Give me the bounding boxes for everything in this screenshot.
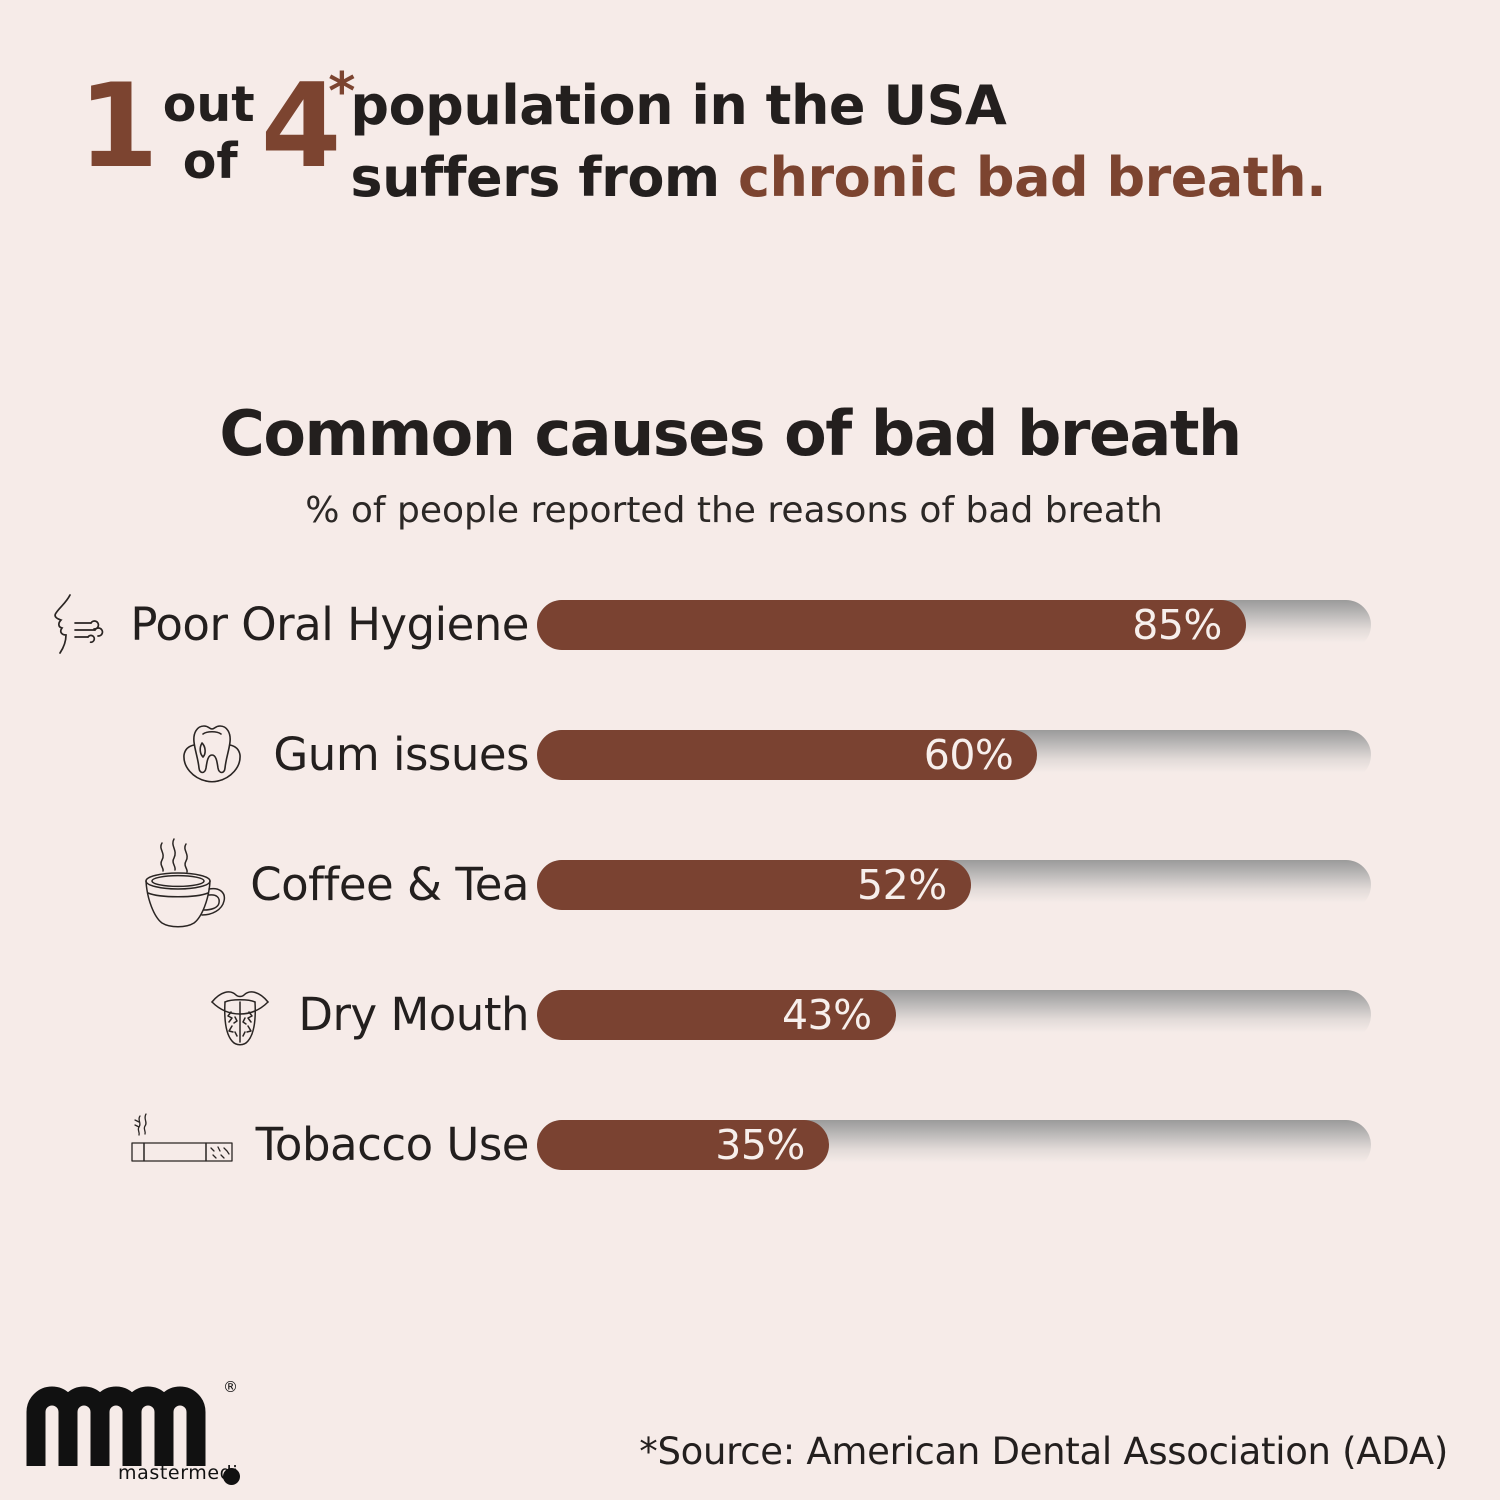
mastermedi-logo: ® mastermedi bbox=[26, 1378, 246, 1490]
source-note: *Source: American Dental Association (AD… bbox=[639, 1428, 1448, 1476]
bar-chart: Poor Oral Hygiene 85% bbox=[0, 596, 1500, 1246]
headline-line-2: suffers from chronic bad breath. bbox=[350, 142, 1326, 214]
bar-row-label: Tobacco Use bbox=[256, 1116, 529, 1174]
bar-fill: 85% bbox=[537, 600, 1246, 650]
bar-fill: 60% bbox=[537, 730, 1037, 780]
headline-out-of: out of bbox=[163, 62, 255, 190]
bar-row-label: Dry Mouth bbox=[298, 986, 529, 1044]
bar-row: Poor Oral Hygiene 85% bbox=[0, 596, 1500, 726]
headline-denominator: 4 bbox=[261, 62, 339, 192]
headline-line-1: population in the USA bbox=[350, 70, 1326, 142]
bar-value-label: 52% bbox=[857, 860, 947, 910]
headline-lines: population in the USA suffers from chron… bbox=[350, 62, 1326, 214]
headline-of-word: of bbox=[163, 133, 255, 190]
tooth-gum-icon bbox=[173, 712, 259, 798]
bar-row-left: Dry Mouth bbox=[0, 986, 537, 1044]
bar-row-left: Gum issues bbox=[0, 726, 537, 784]
bar-value-label: 85% bbox=[1132, 600, 1222, 650]
bar-row: Tobacco Use 35% bbox=[0, 1116, 1500, 1246]
dry-tongue-icon bbox=[198, 972, 284, 1058]
headline-denominator-group: 4 * bbox=[261, 62, 339, 192]
bar-row-label: Gum issues bbox=[273, 726, 529, 784]
headline-out-word: out bbox=[163, 76, 255, 133]
registered-trademark-icon: ® bbox=[223, 1378, 238, 1396]
bar-row-label: Poor Oral Hygiene bbox=[130, 596, 529, 654]
breath-face-icon bbox=[44, 589, 116, 661]
bar-fill: 43% bbox=[537, 990, 896, 1040]
bar-value-label: 35% bbox=[715, 1120, 805, 1170]
bar-row: Coffee & Tea 52% bbox=[0, 856, 1500, 986]
bar-row-left: Tobacco Use bbox=[0, 1116, 537, 1174]
bar-value-label: 60% bbox=[924, 730, 1014, 780]
logo-wordmark: mastermedi bbox=[118, 1462, 238, 1484]
bar-value-label: 43% bbox=[782, 990, 872, 1040]
headline-asterisk: * bbox=[328, 66, 355, 118]
chart-title: Common causes of bad breath bbox=[0, 396, 1460, 472]
headline: 1 out of 4 * population in the USA suffe… bbox=[78, 62, 1418, 214]
chart-subtitle: % of people reported the reasons of bad … bbox=[0, 487, 1468, 535]
bar-row: Dry Mouth 43% bbox=[0, 986, 1500, 1116]
headline-line-2-accent: chronic bad breath. bbox=[738, 146, 1326, 209]
logo-wave-mark bbox=[26, 1378, 226, 1470]
coffee-cup-icon bbox=[132, 837, 236, 933]
headline-numerator: 1 bbox=[78, 62, 157, 192]
bar-row-left: Poor Oral Hygiene bbox=[0, 596, 537, 654]
bar-row-left: Coffee & Tea bbox=[0, 856, 537, 914]
bar-row-label: Coffee & Tea bbox=[250, 856, 529, 914]
logo-dot-icon bbox=[223, 1468, 240, 1485]
cigarette-icon bbox=[126, 1110, 242, 1180]
headline-line-2-plain: suffers from bbox=[350, 146, 738, 209]
bar-fill: 52% bbox=[537, 860, 971, 910]
bar-fill: 35% bbox=[537, 1120, 829, 1170]
